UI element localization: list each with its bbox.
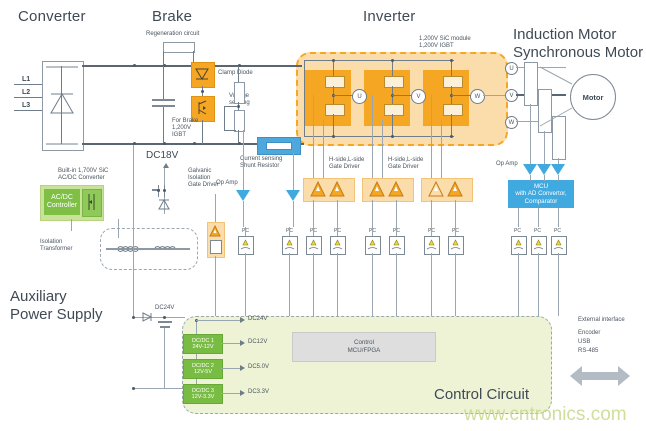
- signal-wire: [245, 253, 246, 316]
- opamp-output-wire-1: [243, 201, 244, 227]
- watermark: www.cntronics.com: [464, 404, 627, 426]
- builtin-sic-label-2: AC/DC Converter: [58, 175, 105, 182]
- gate-driver-label-u-2: Gate Driver: [329, 164, 360, 171]
- rail-label-dc33v: DC3.3V: [248, 389, 269, 396]
- current-sensor-u: [524, 62, 538, 106]
- rail-wire-dc24v: [196, 320, 240, 321]
- rail-wire-dc5v: [221, 368, 240, 369]
- inverter-node: [332, 59, 335, 62]
- vsense-opamp-wire: [224, 130, 236, 131]
- galvanic-label-3: Gate Driver: [188, 182, 219, 189]
- signal-wire: [215, 194, 216, 222]
- bus-node: [201, 90, 204, 93]
- leg-u-output-wire: [333, 95, 353, 96]
- dcdc-3-block: DC/DC 3 12V-3.3V: [183, 384, 223, 404]
- rectifier-bottom-bus: [46, 143, 78, 145]
- mcu-line-3: Comparator: [525, 198, 558, 205]
- mcu-out-wire-3: [558, 208, 559, 227]
- mcu-block: MCU with AD Convertor, Comparator: [508, 180, 574, 208]
- capacitor-plate-top: [152, 99, 175, 101]
- phase-terminal-v: V: [411, 89, 426, 104]
- mcu-in-wire-3: [558, 175, 559, 181]
- cap-wire-bottom: [163, 107, 164, 143]
- regeneration-resistor: [163, 42, 195, 53]
- rail-label-dc12v: DC12V: [248, 339, 267, 346]
- inverter-node: [450, 135, 453, 138]
- photocoupler-glyph-icon: [514, 239, 523, 250]
- pc-label: PC: [554, 228, 561, 234]
- rail-arrow-dc24v: [240, 317, 245, 323]
- rail-arrow-dc33v: [240, 390, 245, 396]
- dc24v-node: [163, 316, 166, 319]
- inverter-node: [450, 59, 453, 62]
- leg-w-output-wire: [451, 95, 471, 96]
- rail-label-dc24v: DC24V: [248, 316, 267, 323]
- input-line-l3: [14, 110, 42, 111]
- switch-u-high: [325, 76, 345, 88]
- signal-wire: [455, 200, 456, 236]
- voltage-divider-resistor-top: [234, 82, 245, 104]
- switch-v-high: [384, 76, 404, 88]
- photocoupler-glyph-icon: [534, 239, 543, 250]
- mcu-line-1: MCU: [534, 183, 548, 190]
- aux-node: [132, 387, 135, 390]
- vsense-wire-bottom: [238, 130, 239, 143]
- op-amp-label-left: Op Amp: [216, 180, 238, 187]
- bus-node: [193, 142, 196, 145]
- leg-v-top-wire: [392, 60, 393, 76]
- dcdc-3-conv: 12V-3.3V: [192, 394, 215, 400]
- photocoupler-glyph-icon: [392, 239, 401, 250]
- mcu-line-2: with AD Convertor,: [515, 190, 566, 197]
- signal-wire: [313, 200, 314, 236]
- control-mcu-fpga-block: Control MCU/FPGA: [292, 332, 436, 362]
- rail-label-dc5v: DC5.0V: [248, 364, 269, 371]
- op-amp-label-right: Op Amp: [496, 161, 518, 168]
- rectifier-diode-icon: [49, 92, 75, 116]
- motor-terminal-u: U: [505, 62, 518, 75]
- signal-wire: [289, 253, 290, 316]
- external-interface-arrow-icon: [570, 363, 630, 389]
- isolation-warning-icon: [428, 181, 444, 197]
- dcdc-1-conv: 24V-12V: [192, 344, 213, 350]
- section-title-inverter: Inverter: [363, 8, 415, 25]
- photocoupler-glyph-icon: [554, 239, 563, 250]
- vsense-wire-top: [238, 66, 239, 82]
- signal-wire: [313, 253, 314, 316]
- photocoupler-glyph-icon: [368, 239, 377, 250]
- gate-signal-u-high: [313, 95, 314, 180]
- transformer-primary-wire: [118, 219, 119, 238]
- dc18v-label: DC18V: [146, 150, 178, 161]
- dcdc-1-block: DC/DC 1 24V-12V: [183, 334, 223, 354]
- external-interface-item-rs485: RS-485: [578, 348, 598, 355]
- mcu-out-wire-1: [518, 208, 519, 227]
- isolation-warning-icon: [369, 181, 385, 197]
- motor-terminal-w: W: [505, 116, 518, 129]
- dcdc-bus-wire: [196, 320, 197, 390]
- op-amp-right-3: [551, 164, 565, 175]
- signal-wire: [372, 200, 373, 236]
- switch-v-low: [384, 104, 404, 116]
- diagram-canvas: Converter Brake Inverter Induction Motor…: [0, 0, 646, 431]
- signal-wire: [396, 200, 397, 236]
- isolation-warning-icon: [329, 181, 345, 197]
- mcu-in-wire-2: [544, 175, 545, 181]
- brake-to-bus-wire: [202, 120, 203, 144]
- mosfet-symbol-icon: [85, 192, 98, 212]
- phase-terminal-u: U: [352, 89, 367, 104]
- inverter-bus-left-link: [304, 60, 305, 137]
- leg-w-top-wire: [451, 60, 452, 76]
- pc-label: PC: [514, 228, 521, 234]
- signal-wire: [431, 200, 432, 236]
- rail-wire-dc33v: [221, 393, 240, 394]
- acdc-controller-block: AC/DC Controller: [44, 189, 80, 215]
- leg-v-bot-wire: [392, 114, 393, 136]
- signal-wire: [289, 227, 290, 236]
- dc24v-cap-plate-bottom: [160, 326, 170, 328]
- control-box-line-1: Control: [354, 339, 374, 347]
- cap-wire-top: [163, 66, 164, 99]
- brake-label-line3: IGBT: [172, 132, 186, 139]
- csense-wire-v: [544, 131, 545, 164]
- aux-node: [132, 316, 135, 319]
- op-amp-left-1: [236, 190, 250, 201]
- acdc-output-wire: [71, 219, 72, 231]
- input-line-l2: [14, 97, 42, 98]
- op-amp-right-1: [523, 164, 537, 175]
- gate-driver-label-v-2: Gate Driver: [388, 164, 419, 171]
- photocoupler-glyph-icon: [333, 239, 342, 250]
- op-amp-right-2: [537, 164, 551, 175]
- shunt-resistor-icon: [266, 142, 292, 150]
- section-title-power-supply: Power Supply: [10, 306, 103, 323]
- inverter-node: [332, 135, 335, 138]
- aux-node: [163, 189, 166, 192]
- switch-u-low: [325, 104, 345, 116]
- switch-w-high: [443, 76, 463, 88]
- acdc-controller-line-1: AC/DC: [51, 194, 73, 202]
- inverter-node: [391, 59, 394, 62]
- voltage-divider-resistor-bottom: [234, 110, 245, 132]
- clamp-diode-label: Clamp Diode: [218, 70, 253, 77]
- gate-signal-v-high: [372, 95, 373, 180]
- isolation-transformer-label-2: Transformer: [40, 246, 72, 253]
- rail-arrow-dc12v: [240, 340, 245, 346]
- acdc-controller-line-2: Controller: [47, 202, 77, 210]
- transformer-winding-secondary: [118, 250, 140, 260]
- section-title-synchronous-motor: Synchronous Motor: [513, 44, 643, 61]
- photocoupler-glyph-icon: [285, 239, 294, 250]
- signal-wire: [518, 253, 519, 316]
- signal-wire: [372, 253, 373, 316]
- leg-w-bot-wire: [451, 114, 452, 136]
- opamp-input-wire-2: [293, 153, 294, 190]
- external-interface-title: External interface: [578, 317, 625, 324]
- signal-wire: [337, 200, 338, 236]
- signal-wire: [215, 256, 216, 316]
- photocoupler-glyph-icon: [427, 239, 436, 250]
- external-interface-item-encoder: Encoder: [578, 330, 600, 337]
- signal-wire: [245, 227, 246, 236]
- leg-u-top-wire: [333, 60, 334, 76]
- control-box-line-2: MCU/FPGA: [348, 347, 381, 355]
- regeneration-circuit-label: Regeneration circuit: [146, 31, 199, 38]
- control-circuit-label: Control Circuit: [434, 386, 529, 403]
- inverter-node: [391, 135, 394, 138]
- mcu-out-wire-2: [538, 208, 539, 227]
- signal-wire: [396, 253, 397, 316]
- dc24v-source-label: DC24V: [155, 305, 174, 312]
- opamp-input-wire-1: [243, 130, 244, 190]
- clamp-diode-icon: [195, 66, 209, 82]
- phase-terminal-w: W: [470, 89, 485, 104]
- dc24v-cap-plate-top: [158, 321, 172, 323]
- motor-connection-lines: [540, 60, 588, 132]
- dc24v-diode-icon: [141, 311, 153, 323]
- rail-arrow-dc5v: [240, 365, 245, 371]
- external-interface-item-usb: USB: [578, 339, 590, 346]
- section-title-auxiliary: Auxiliary: [10, 288, 67, 305]
- leg-u-bot-wire: [333, 114, 334, 136]
- signal-wire: [431, 253, 432, 316]
- dcdc-2-conv: 12V-5V: [194, 369, 212, 375]
- rail-wire-dc12v: [221, 343, 240, 344]
- signal-wire: [558, 253, 559, 316]
- transformer-winding-aux: [155, 238, 177, 248]
- vsense-down-wire: [224, 106, 225, 130]
- signal-wire: [455, 253, 456, 316]
- csense-wire-u: [530, 104, 531, 164]
- mcu-in-wire-1: [530, 175, 531, 181]
- bus-node: [133, 64, 136, 67]
- photocoupler-icon: [210, 240, 222, 254]
- section-title-induction-motor: Induction Motor: [513, 26, 616, 43]
- switch-w-low: [443, 104, 463, 116]
- aux-node: [157, 189, 160, 192]
- current-sensing-label-2: Shunt Resistor: [240, 163, 279, 170]
- igbt-symbol-icon: [195, 100, 209, 116]
- isolation-warning-icon: [310, 181, 326, 197]
- signal-wire: [538, 253, 539, 316]
- dc24v-return-wire: [164, 328, 165, 388]
- transformer-winding-primary: [118, 238, 140, 248]
- aux-input-wire-left: [133, 145, 134, 317]
- section-title-converter: Converter: [18, 8, 86, 25]
- photocoupler-glyph-icon: [309, 239, 318, 250]
- op-amp-left-2: [286, 190, 300, 201]
- inverter-module-label-2: 1,200V IGBT: [419, 43, 454, 50]
- photocoupler-glyph-icon: [241, 239, 250, 250]
- gate-signal-w-low: [441, 120, 442, 180]
- input-line-l1: [14, 84, 42, 85]
- isolation-warning-icon: [447, 181, 463, 197]
- pc-label: PC: [534, 228, 541, 234]
- inverter-bus-top: [304, 60, 454, 61]
- dcdc-2-block: DC/DC 2 12V-5V: [183, 359, 223, 379]
- photocoupler-glyph-icon: [451, 239, 460, 250]
- gate-signal-u-low: [323, 120, 324, 180]
- regen-wire-left: [163, 51, 164, 65]
- vsense-tap-wire: [224, 106, 238, 107]
- section-title-brake: Brake: [152, 8, 192, 25]
- input-label-l1: L1: [22, 76, 30, 83]
- input-label-l2: L2: [22, 89, 30, 96]
- gate-signal-w-high: [431, 95, 432, 180]
- isolation-warning-icon: [209, 225, 221, 237]
- gate-signal-v-low: [382, 120, 383, 180]
- opamp-output-wire-2: [293, 201, 294, 227]
- rectifier-top-bus: [46, 66, 78, 68]
- isolation-warning-icon: [388, 181, 404, 197]
- leg-v-output-wire: [392, 95, 412, 96]
- aux-diode-icon: [158, 198, 171, 212]
- signal-wire: [337, 253, 338, 316]
- input-label-l3: L3: [22, 102, 30, 109]
